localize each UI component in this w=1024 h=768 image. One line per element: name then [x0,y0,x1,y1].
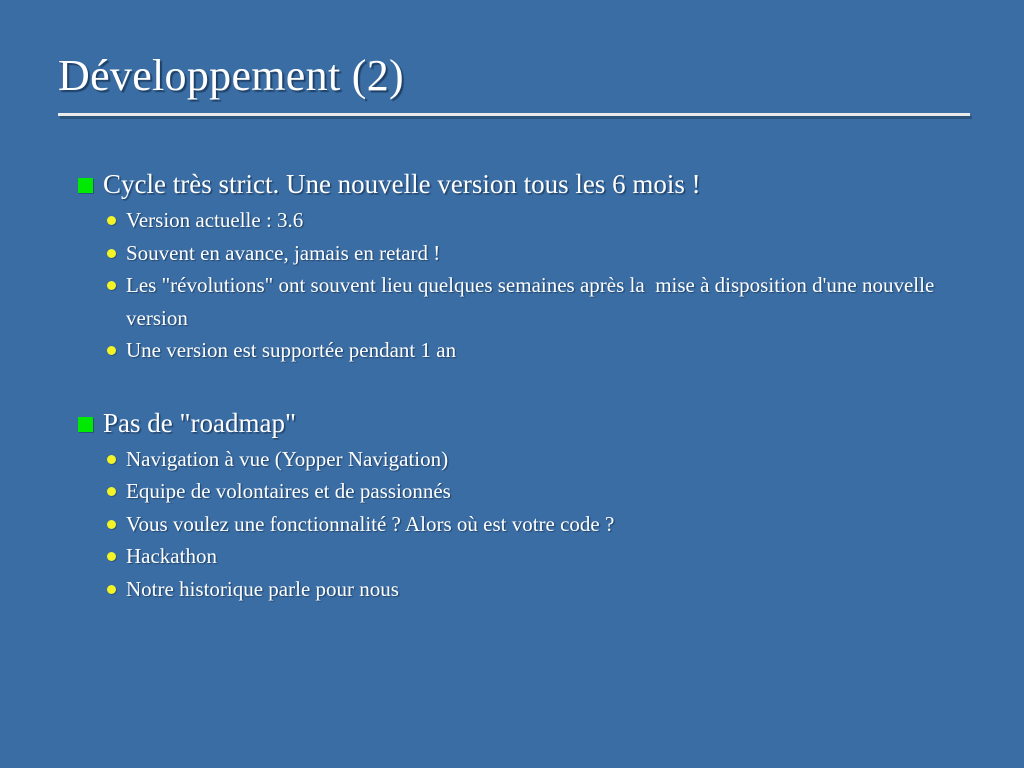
dot-bullet-icon [107,216,116,225]
list-item: Souvent en avance, jamais en retard ! [78,237,956,270]
sub-bullet-text: Version actuelle : 3.6 [126,204,956,237]
list-item: Hackathon [78,540,956,573]
dot-bullet-icon [107,552,116,561]
square-bullet-icon [78,417,93,432]
sub-bullet-text: Une version est supportée pendant 1 an [126,334,956,367]
sub-bullet-text: Souvent en avance, jamais en retard ! [126,237,956,270]
slide-body: Cycle très strict. Une nouvelle version … [78,166,978,605]
sub-bullet-text: Navigation à vue (Yopper Navigation) [126,443,956,476]
presentation-slide: Développement (2) Cycle très strict. Une… [0,0,1024,768]
bullet-level1-heading: Cycle très strict. Une nouvelle version … [78,166,918,202]
square-bullet-icon [78,178,93,193]
list-item: Version actuelle : 3.6 [78,204,956,237]
list-item: Une version est supportée pendant 1 an [78,334,956,367]
dot-bullet-icon [107,346,116,355]
sub-bullet-list-2: Navigation à vue (Yopper Navigation) Equ… [78,443,978,606]
list-item: Vous voulez une fonctionnalité ? Alors o… [78,508,956,541]
list-item: Equipe de volontaires et de passionnés [78,475,956,508]
sub-bullet-text: Equipe de volontaires et de passionnés [126,475,956,508]
sub-bullet-text: Vous voulez une fonctionnalité ? Alors o… [126,508,956,541]
bullet-group-1: Cycle très strict. Une nouvelle version … [78,166,978,367]
list-item: Les "révolutions" ont souvent lieu quelq… [78,269,956,334]
bullet-level1-text: Pas de "roadmap" [103,408,296,438]
bullet-level1-heading: Pas de "roadmap" [78,405,918,441]
title-underline-rule [58,113,970,116]
dot-bullet-icon [107,487,116,496]
dot-bullet-icon [107,455,116,464]
page-title: Développement (2) [58,50,970,102]
sub-bullet-text: Hackathon [126,540,956,573]
bullet-group-2: Pas de "roadmap" Navigation à vue (Yoppe… [78,405,978,606]
dot-bullet-icon [107,249,116,258]
dot-bullet-icon [107,281,116,290]
dot-bullet-icon [107,520,116,529]
bullet-level1-text: Cycle très strict. Une nouvelle version … [103,169,701,199]
list-item: Notre historique parle pour nous [78,573,956,606]
list-item: Navigation à vue (Yopper Navigation) [78,443,956,476]
dot-bullet-icon [107,585,116,594]
sub-bullet-text: Notre historique parle pour nous [126,573,956,606]
title-block: Développement (2) [58,50,970,102]
sub-bullet-text: Les "révolutions" ont souvent lieu quelq… [126,269,956,334]
sub-bullet-list-1: Version actuelle : 3.6 Souvent en avance… [78,204,978,367]
